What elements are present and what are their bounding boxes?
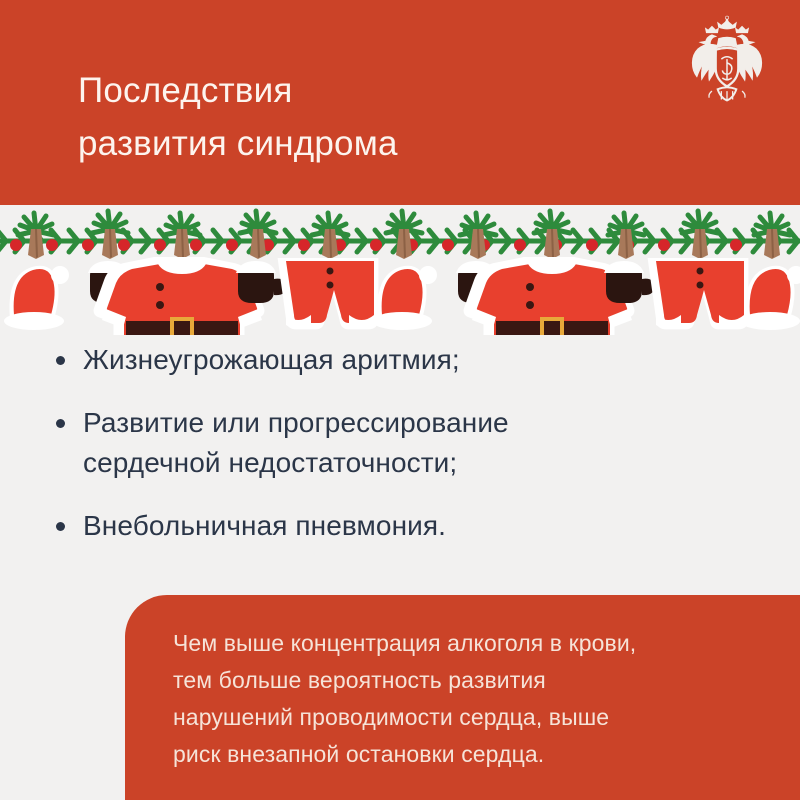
header-banner: Последствия развития синдрома	[0, 0, 800, 205]
bullet-dot-icon	[56, 419, 65, 428]
russian-double-headed-eagle-health-emblem-icon	[680, 14, 774, 108]
garland-item-hat	[4, 266, 69, 330]
list-item-label: Внебольничная пневмония.	[83, 506, 446, 546]
callout-text: Чем выше концентрация алкоголя в крови, …	[173, 625, 773, 773]
garland-item-hat	[740, 266, 800, 330]
garland-item-hat	[372, 266, 437, 330]
bullet-dot-icon	[56, 356, 65, 365]
list-item-label: Развитие или прогрессирование сердечной …	[83, 403, 509, 483]
consequences-list: Жизнеугрожающая аритмия; Развитие или пр…	[56, 340, 756, 569]
list-item: Внебольничная пневмония.	[56, 506, 756, 546]
page-title: Последствия развития синдрома	[78, 64, 598, 170]
list-item: Жизнеугрожающая аритмия;	[56, 340, 756, 380]
bullet-dot-icon	[56, 522, 65, 531]
list-item-label: Жизнеугрожающая аритмия;	[83, 340, 460, 380]
garland-item-mitten	[604, 261, 654, 303]
list-item: Развитие или прогрессирование сердечной …	[56, 403, 756, 483]
garland-item-pants	[648, 258, 749, 329]
garland-item-pants	[278, 258, 379, 329]
callout-panel: Чем выше концентрация алкоголя в крови, …	[125, 595, 800, 800]
christmas-clothesline-garland-icon	[0, 205, 800, 335]
garland-item-mitten	[236, 261, 286, 303]
